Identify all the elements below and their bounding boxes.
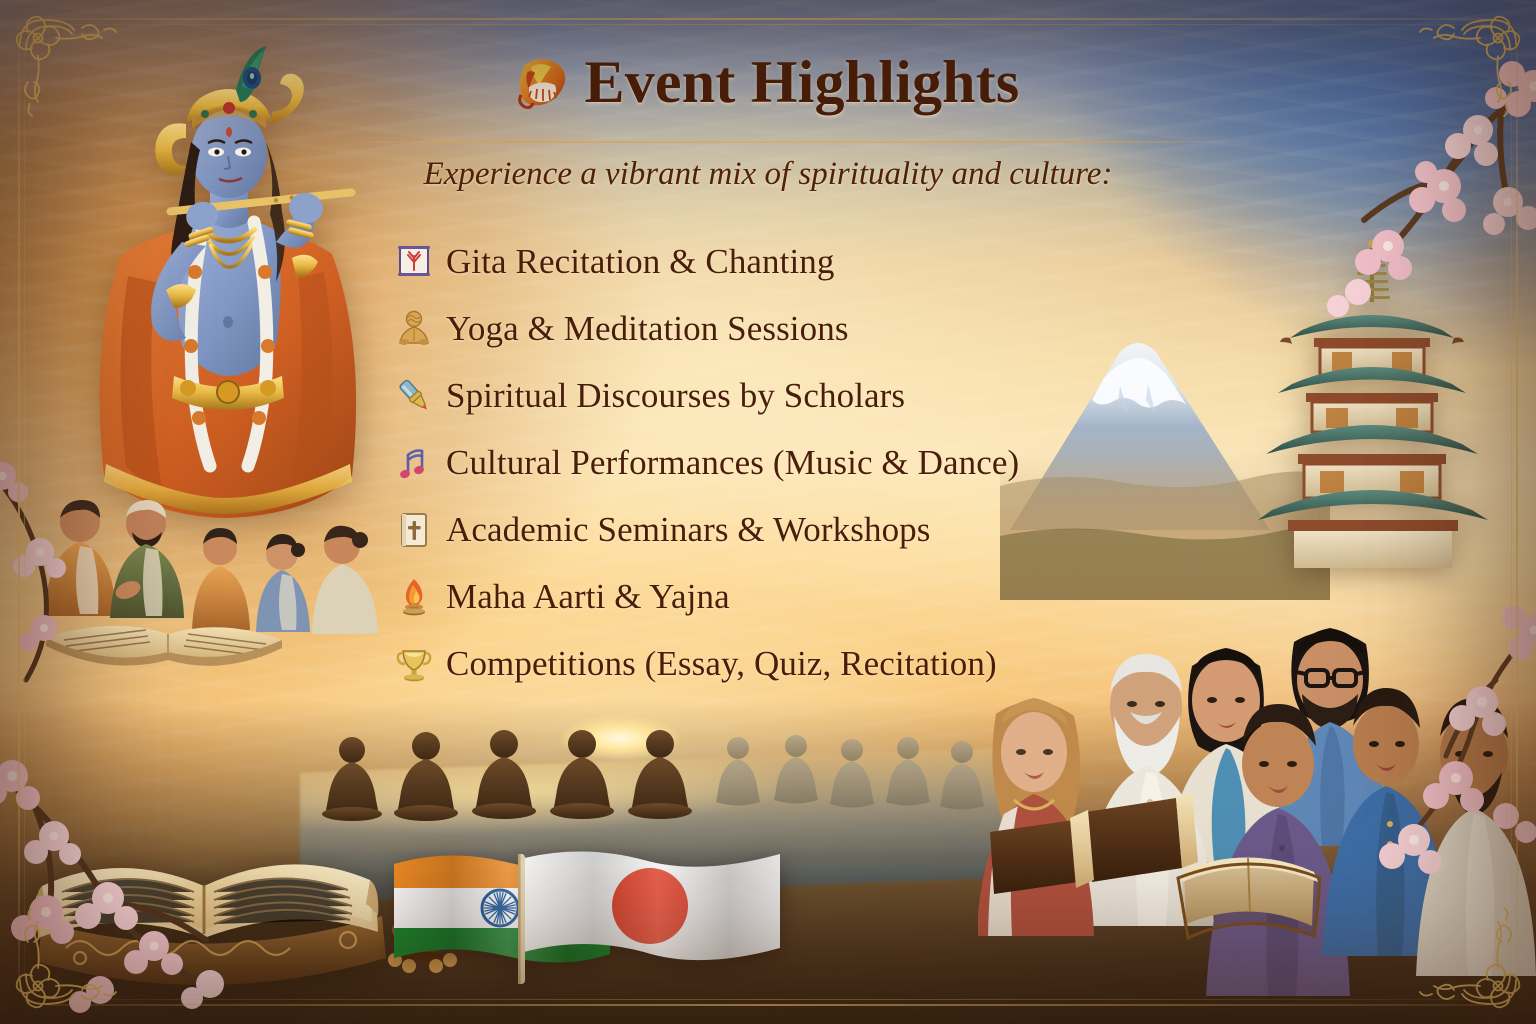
- film-grain-overlay: [0, 0, 1536, 1024]
- event-highlights-poster: Event Highlights Experience a vibrant mi…: [0, 0, 1536, 1024]
